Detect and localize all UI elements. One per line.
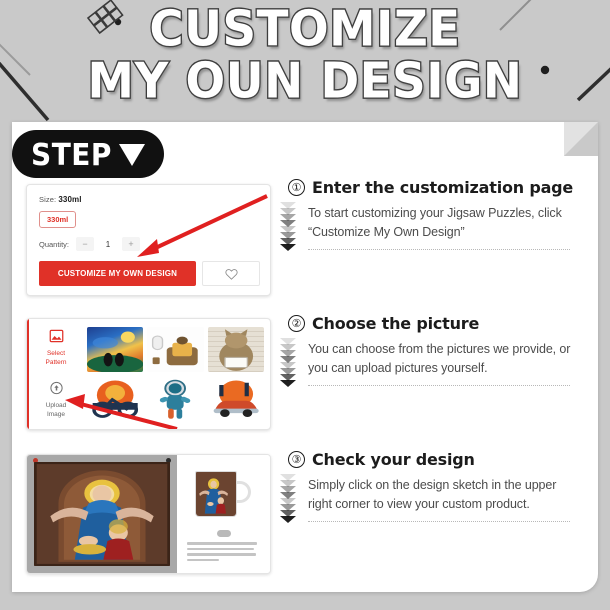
design-preview-screenshot [26,454,271,574]
stained-glass-madonna-artwork[interactable] [34,462,170,566]
artwork-canvas [27,455,177,573]
screenshot-column-3 [12,450,274,588]
pattern-picker-screenshot: Select Pattern Upload Image [26,318,271,430]
step-3-body: Simply click on the design sketch in the… [308,476,576,514]
steps-container: Size: 330ml 330ml Quantity: − 1 + CUSTOM… [12,178,598,592]
thumbnail-classic-car-sunset[interactable] [208,376,264,421]
annotation-arrow-1 [123,191,271,263]
product-description-placeholder [183,542,264,561]
corner-fold-icon [564,122,598,156]
heart-icon [225,268,238,280]
step-block-1: ① Enter the customization page To start … [274,178,598,250]
artwork-art [34,462,170,566]
thumbnail-art [208,376,264,421]
chevron-down-icon [280,516,296,523]
mug-body [195,471,237,517]
step-3-title: ③ Check your design [288,450,598,469]
size-value: 330ml [58,195,81,204]
step-1-title: ① Enter the customization page [288,178,598,197]
step-3-divider [308,521,570,522]
preview-badge [217,530,231,537]
step-2-title-text: Choose the picture [312,314,479,333]
step-3-number: ③ [288,451,305,468]
step-badge-label: STEP [31,136,112,172]
select-pattern-option[interactable]: Select Pattern [29,329,83,367]
annotation-arrow-2 [53,381,183,430]
select-pattern-line-2: Pattern [46,359,67,366]
size-chip-330ml[interactable]: 330ml [39,211,76,228]
customize-my-own-design-button[interactable]: CUSTOMIZE MY OWN DESIGN [39,261,196,286]
page-title-line-1: CUSTOMIZE [0,1,610,59]
step-row-3: ③ Check your design Simply click on the … [12,450,598,588]
screenshot-column-1: Size: 330ml 330ml Quantity: − 1 + CUSTOM… [12,178,274,310]
triangle-down-icon [119,144,145,166]
text-column-2: ② Choose the picture You can choose from… [274,314,598,444]
select-pattern-line-1: Select [47,350,65,357]
text-column-3: ③ Check your design Simply click on the … [274,450,598,588]
thumbnail-cat-holding-sign[interactable] [208,327,264,372]
step-2-body: You can choose from the pictures we prov… [308,340,576,378]
step-3-title-text: Check your design [312,450,475,469]
chevron-down-icon [280,380,296,387]
step-2-title: ② Choose the picture [288,314,598,333]
step-1-number: ① [288,179,305,196]
step-1-body: To start customizing your Jigsaw Puzzles… [308,204,576,242]
page-title: CUSTOMIZE MY OUN DESIGN [0,4,610,108]
step-badge: STEP [12,130,164,178]
step-2-number: ② [288,315,305,332]
chevron-down-icon-group-3 [278,474,298,522]
chevron-down-icon-group-1 [278,202,298,250]
step-2-divider [308,385,570,386]
mug-preview-panel [177,455,270,573]
thumbnail-starry-night-cats[interactable] [87,327,143,372]
step-row-2: Select Pattern Upload Image [12,314,598,444]
thumbnail-art [147,327,203,372]
page-title-line-2: MY OUN DESIGN [0,53,610,111]
wishlist-button[interactable] [202,261,260,286]
step-block-2: ② Choose the picture You can choose from… [274,314,598,386]
step-block-3: ③ Check your design Simply click on the … [274,450,598,522]
step-row-1: Size: 330ml 330ml Quantity: − 1 + CUSTOM… [12,178,598,310]
thumbnail-art [87,327,143,372]
screenshot-column-2: Select Pattern Upload Image [12,314,274,444]
image-icon [49,329,64,343]
size-label-text: Size: [39,195,56,204]
quantity-label: Quantity: [39,240,69,249]
quantity-value: 1 [101,240,115,249]
quantity-decrement-button[interactable]: − [76,237,94,251]
chevron-down-icon [280,244,296,251]
product-options-screenshot: Size: 330ml 330ml Quantity: − 1 + CUSTOM… [26,184,271,296]
select-pattern-label: Select Pattern [29,350,83,367]
mug-artwork [196,472,236,516]
step-1-title-text: Enter the customization page [312,178,573,197]
product-actions: CUSTOMIZE MY OWN DESIGN [39,261,260,286]
thumbnail-cat-in-armchair[interactable] [147,327,203,372]
text-column-1: ① Enter the customization page To start … [274,178,598,310]
custom-mug-preview[interactable] [183,463,264,525]
thumbnail-art [208,327,264,372]
step-1-divider [308,249,570,250]
chevron-down-icon-group-2 [278,338,298,386]
